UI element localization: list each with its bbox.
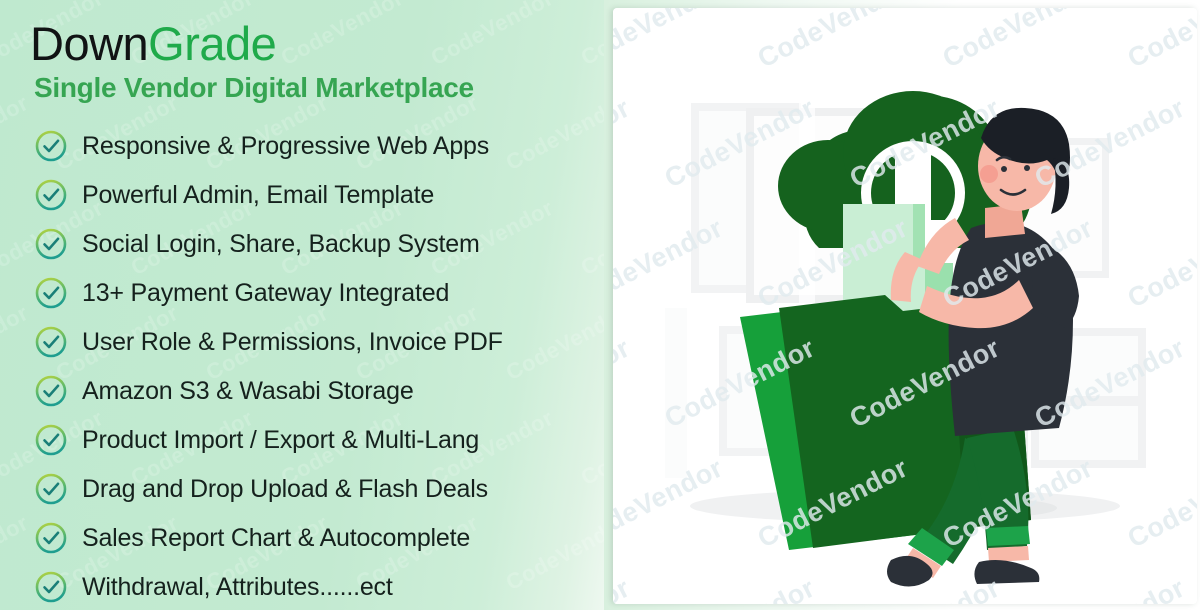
person-eye xyxy=(1024,165,1030,171)
check-circle-icon xyxy=(34,472,68,506)
feature-label: 13+ Payment Gateway Integrated xyxy=(82,280,449,306)
feature-label: Responsive & Progressive Web Apps xyxy=(82,133,489,159)
feature-panel: CodeVendorCodeVendorCodeVendorCodeVendor… xyxy=(0,0,604,610)
illustration-card: CodeVendorCodeVendorCodeVendorCodeVendor… xyxy=(613,8,1197,604)
pant-cuff-right xyxy=(986,526,1030,546)
feature-list-item: Social Login, Share, Backup System xyxy=(16,220,604,269)
feature-list-item: 13+ Payment Gateway Integrated xyxy=(16,269,604,318)
feature-label: Powerful Admin, Email Template xyxy=(82,182,434,208)
feature-list-item: Sales Report Chart & Autocomplete xyxy=(16,514,604,563)
feature-list-item: User Role & Permissions, Invoice PDF xyxy=(16,318,604,367)
feature-label: Drag and Drop Upload & Flash Deals xyxy=(82,476,488,502)
check-circle-icon xyxy=(34,570,68,604)
check-circle-icon xyxy=(34,423,68,457)
feature-label: Amazon S3 & Wasabi Storage xyxy=(82,378,414,404)
feature-list-item: Amazon S3 & Wasabi Storage xyxy=(16,367,604,416)
brand-tagline: Single Vendor Digital Marketplace xyxy=(34,73,604,104)
feature-label: Product Import / Export & Multi-Lang xyxy=(82,427,479,453)
check-circle-icon xyxy=(34,129,68,163)
check-circle-icon xyxy=(34,325,68,359)
feature-list-item: Product Import / Export & Multi-Lang xyxy=(16,416,604,465)
person-skin xyxy=(988,546,1029,562)
feature-list: Responsive & Progressive Web AppsPowerfu… xyxy=(16,122,604,610)
check-circle-icon xyxy=(34,227,68,261)
feature-list-item: Powerful Admin, Email Template xyxy=(16,171,604,220)
check-circle-icon xyxy=(34,178,68,212)
promo-banner: CodeVendorCodeVendorCodeVendorCodeVendor… xyxy=(0,0,1200,610)
feature-list-item: Drag and Drop Upload & Flash Deals xyxy=(16,465,604,514)
brand-title: DownGrade xyxy=(30,20,604,67)
feature-label: User Role & Permissions, Invoice PDF xyxy=(82,329,503,355)
illustration-panel: CodeVendorCodeVendorCodeVendorCodeVendor… xyxy=(604,0,1200,610)
feature-label: Withdrawal, Attributes......ect xyxy=(82,574,393,600)
person-cheek xyxy=(980,165,998,183)
cloud-download-folder-illustration xyxy=(613,8,1197,604)
brand-title-part-grade: Grade xyxy=(148,17,276,70)
feature-label: Social Login, Share, Backup System xyxy=(82,231,480,257)
feature-label: Sales Report Chart & Autocomplete xyxy=(82,525,470,551)
person-eye xyxy=(1001,166,1007,172)
feature-list-item: Withdrawal, Attributes......ect xyxy=(16,563,604,610)
check-circle-icon xyxy=(34,374,68,408)
check-circle-icon xyxy=(34,521,68,555)
brand-title-part-down: Down xyxy=(30,17,148,70)
check-circle-icon xyxy=(34,276,68,310)
feature-list-item: Responsive & Progressive Web Apps xyxy=(16,122,604,171)
